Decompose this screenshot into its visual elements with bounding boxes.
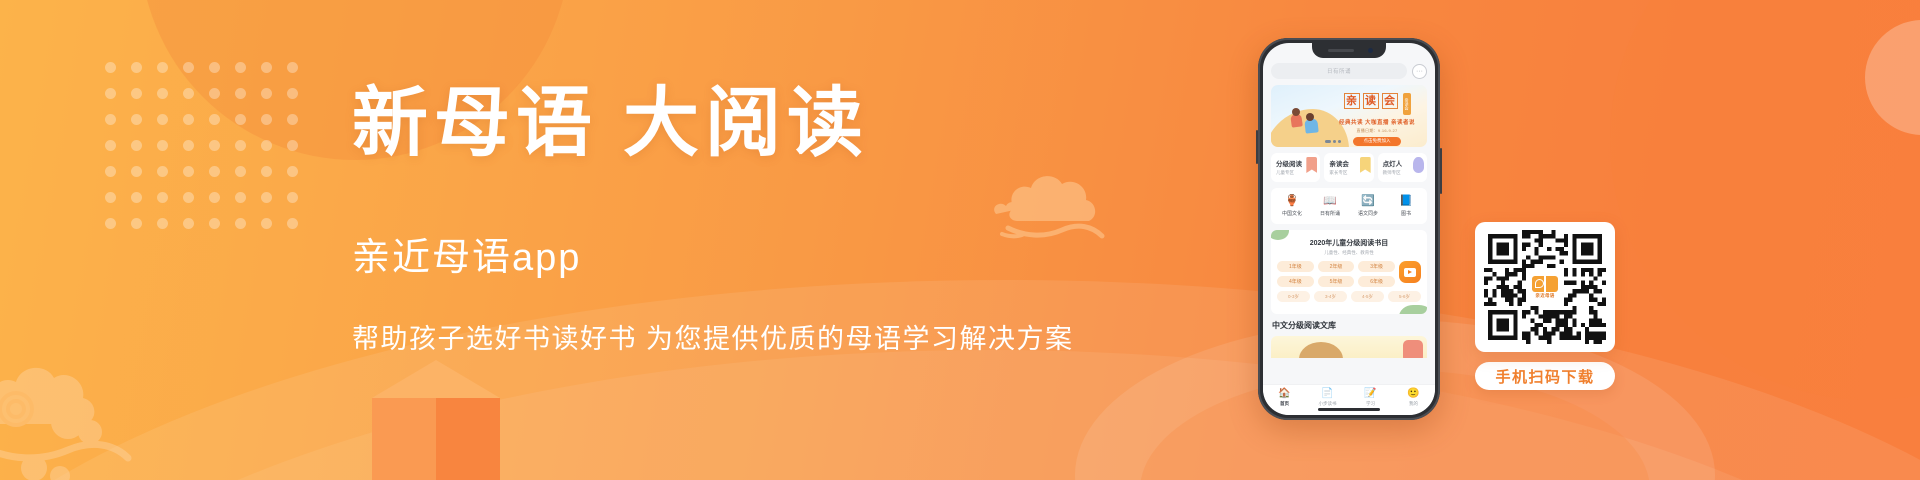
speaker-icon xyxy=(1328,49,1354,52)
home-icon: 🏠 xyxy=(1278,389,1290,399)
grade-chip[interactable]: 2年级 xyxy=(1318,261,1355,272)
section-title: 中文分级阅读文库 xyxy=(1272,320,1427,331)
kid-head-1 xyxy=(1292,108,1300,116)
video-play-button[interactable] xyxy=(1399,261,1421,283)
promo-date: 直播日期：9.16-9.27 xyxy=(1333,128,1421,134)
quick-link-label: 图书 xyxy=(1401,210,1411,217)
quick-links-row: 🏺 中国文化 📖 日有所诵 🔄 语文同步 📘 图书 xyxy=(1271,188,1427,224)
leaf-decoration xyxy=(1399,305,1427,314)
illustration-book xyxy=(1403,340,1423,358)
promo-card[interactable]: 亲 读 会 亲读会 经典共读 大咖直播 亲读者说 直播日期：9.16-9.27 … xyxy=(1271,85,1427,147)
banner-copy: 新母语 大阅读 亲近母语app 帮助孩子选好书读好书 为您提供优质的母语学习解决… xyxy=(352,86,1052,356)
background-circle-top-right xyxy=(1865,20,1920,135)
quick-link-label: 语文同步 xyxy=(1358,210,1378,217)
document-icon: 📄 xyxy=(1321,389,1333,399)
promo-banner: 新母语 大阅读 亲近母语app 帮助孩子选好书读好书 为您提供优质的母语学习解决… xyxy=(0,0,1920,480)
library-banner-card[interactable] xyxy=(1271,336,1427,358)
user-icon: 🙂 xyxy=(1407,389,1419,399)
phone-notch xyxy=(1312,43,1386,58)
tab-label: 学习 xyxy=(1366,401,1375,407)
grade-chip[interactable]: 4年级 xyxy=(1277,276,1314,287)
cloud-motif-bottom-icon xyxy=(0,364,194,480)
category-cards: 分级阅读 儿童专区 亲读会 家长专区 点灯人 教师专区 xyxy=(1271,153,1427,182)
book-icon: 📘 xyxy=(1399,196,1413,207)
phone-screen: 日有所诵 ··· 亲 读 会 亲读会 xyxy=(1263,43,1435,415)
kid-head-2 xyxy=(1306,113,1314,121)
promo-char: 亲 xyxy=(1344,93,1360,109)
category-card-parent-club[interactable]: 亲读会 家长专区 xyxy=(1324,153,1373,182)
age-row: 0-3岁 3-4岁 4-5岁 5-6岁 xyxy=(1277,291,1421,302)
quick-link-daily-recite[interactable]: 📖 日有所诵 xyxy=(1311,196,1349,217)
search-row: 日有所诵 ··· xyxy=(1271,63,1427,79)
person-icon xyxy=(1413,157,1424,173)
grade-chip[interactable]: 6年级 xyxy=(1358,276,1395,287)
tab-study[interactable]: 📝 学习 xyxy=(1349,389,1392,407)
age-chip[interactable]: 4-5岁 xyxy=(1351,291,1384,302)
app-content: 日有所诵 ··· 亲 读 会 亲读会 xyxy=(1263,43,1435,415)
sync-icon: 🔄 xyxy=(1361,196,1375,207)
search-input[interactable]: 日有所诵 xyxy=(1271,63,1407,79)
app-name: 亲近母语app xyxy=(352,226,1052,281)
promo-char: 会 xyxy=(1382,93,1398,109)
age-chip[interactable]: 0-3岁 xyxy=(1277,291,1310,302)
brand-name: 亲近母语 xyxy=(1535,293,1554,299)
quick-link-books[interactable]: 📘 图书 xyxy=(1387,196,1425,217)
quick-link-label: 日有所诵 xyxy=(1320,210,1340,217)
age-chip[interactable]: 3-4岁 xyxy=(1314,291,1347,302)
tab-reading[interactable]: 📄 小步读书 xyxy=(1306,389,1349,407)
camera-icon xyxy=(1368,48,1373,53)
illustration-hill xyxy=(1299,342,1343,358)
promo-join-button[interactable]: 点击免费加入 xyxy=(1353,137,1401,146)
background-circle-right xyxy=(1610,0,1920,400)
grade-chip[interactable]: 1年级 xyxy=(1277,261,1314,272)
download-button[interactable]: 手机扫码下载 xyxy=(1475,362,1615,390)
booklist-subtitle: 儿童性、经典性、教育性 xyxy=(1277,250,1421,256)
category-card-teacher[interactable]: 点灯人 教师专区 xyxy=(1378,153,1427,182)
page-title: 新母语 大阅读 xyxy=(352,86,1052,164)
category-card-graded-reading[interactable]: 分级阅读 儿童专区 xyxy=(1271,153,1320,182)
tab-label: 我的 xyxy=(1409,401,1418,407)
phone-mockup: 日有所诵 ··· 亲 读 会 亲读会 xyxy=(1258,38,1440,420)
tab-label: 首页 xyxy=(1280,401,1289,407)
message-icon[interactable]: ··· xyxy=(1412,64,1427,79)
qr-code-box: 亲近母语 xyxy=(1475,222,1615,352)
quick-link-sync[interactable]: 🔄 语文同步 xyxy=(1349,196,1387,217)
book-logo-icon xyxy=(1532,276,1558,292)
background-sweep-back xyxy=(0,350,1920,480)
grade-chip[interactable]: 3年级 xyxy=(1358,261,1395,272)
book-open-icon: 📖 xyxy=(1323,196,1337,207)
qr-download-panel: 亲近母语 手机扫码下载 xyxy=(1475,222,1630,390)
play-icon xyxy=(1404,268,1416,277)
home-indicator xyxy=(1318,408,1380,411)
dot-grid-pattern xyxy=(105,62,305,232)
booklist-card: 2020年儿童分级阅读书目 儿童性、经典性、教育性 1年级 2年级 3年级 4年… xyxy=(1271,230,1427,314)
vase-icon: 🏺 xyxy=(1285,196,1299,207)
grade-chip[interactable]: 5年级 xyxy=(1318,276,1355,287)
clipboard-icon: 📝 xyxy=(1364,389,1376,399)
booklist-title: 2020年儿童分级阅读书目 xyxy=(1277,238,1421,248)
tab-profile[interactable]: 🙂 我的 xyxy=(1392,389,1435,407)
tab-label: 小步读书 xyxy=(1319,401,1337,407)
tab-home[interactable]: 🏠 首页 xyxy=(1263,389,1306,407)
promo-subtitle: 经典共读 大咖直播 亲读者说 xyxy=(1333,118,1421,126)
promo-char: 读 xyxy=(1363,93,1379,109)
tagline: 帮助孩子选好书读好书 为您提供优质的母语学习解决方案 xyxy=(352,317,1052,356)
age-chip[interactable]: 5-6岁 xyxy=(1388,291,1421,302)
isometric-cube-decoration xyxy=(372,360,500,480)
carousel-dots[interactable] xyxy=(1325,140,1341,143)
qr-code: 亲近母语 xyxy=(1484,230,1606,344)
brand-logo: 亲近母语 xyxy=(1527,269,1563,305)
quick-link-chinese-culture[interactable]: 🏺 中国文化 xyxy=(1273,196,1311,217)
quick-link-label: 中国文化 xyxy=(1282,210,1302,217)
promo-title: 亲 读 会 亲读会 xyxy=(1333,93,1421,115)
promo-vertical-tag: 亲读会 xyxy=(1403,93,1411,115)
